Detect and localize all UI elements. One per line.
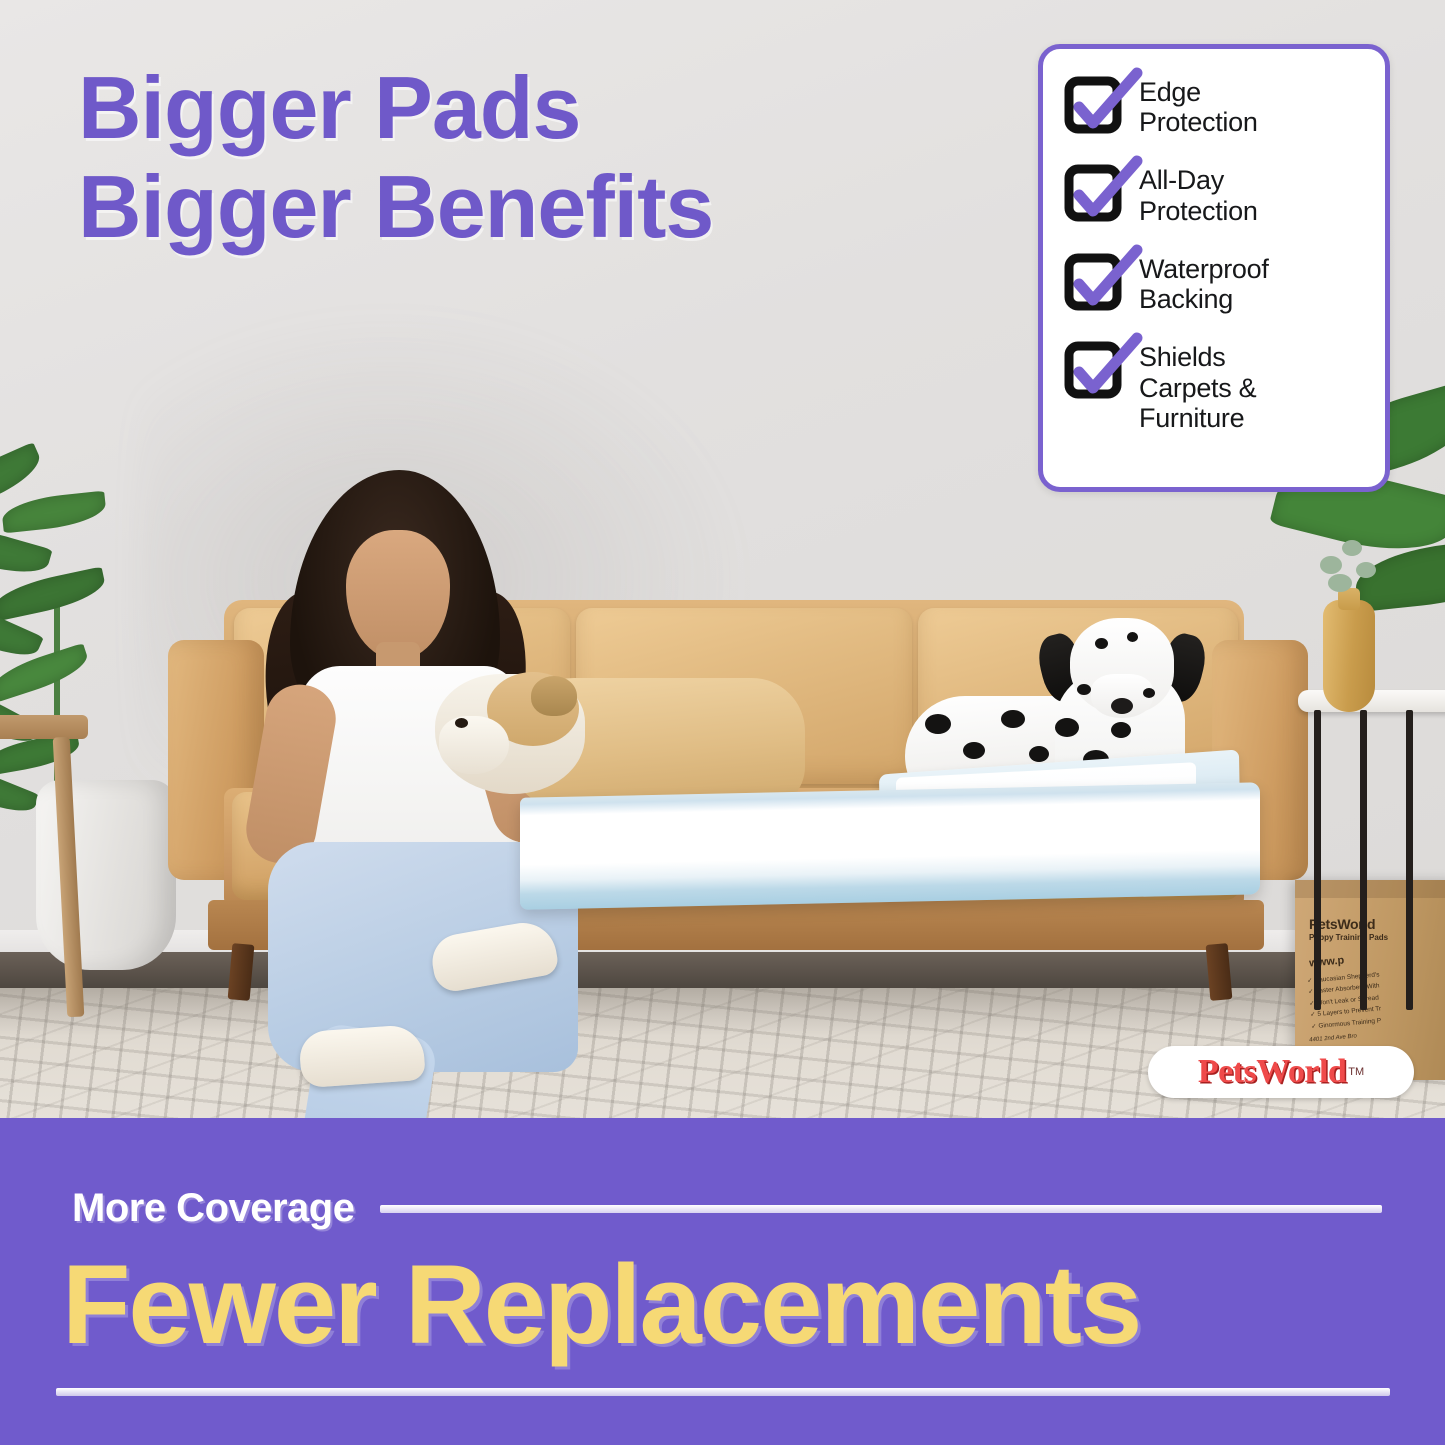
headline: Bigger Pads Bigger Benefits [78,58,978,257]
wooden-side-table-left [0,715,90,1015]
training-pad-main [520,782,1260,910]
checkbox-checked-icon [1065,252,1121,304]
headline-line-1: Bigger Pads [78,58,978,157]
banner-rule-top [380,1205,1382,1213]
feature-label-line: Furniture [1139,403,1256,433]
checkbox-checked-icon [1065,75,1121,127]
sneaker-front [298,1024,426,1089]
headline-line-2: Bigger Benefits [78,157,978,256]
banner-rule-bottom [56,1388,1390,1396]
feature-item: Edge Protection [1065,75,1367,137]
trademark-symbol: TM [1348,1066,1364,1078]
feature-label: Edge Protection [1139,75,1258,137]
banner-kicker-row: More Coverage [72,1186,1382,1231]
eucalyptus-sprig [1320,556,1342,574]
banner-kicker: More Coverage [72,1186,354,1231]
feature-checklist-card: Edge Protection All-Day Protection [1038,44,1390,492]
feature-label: Shields Carpets & Furniture [1139,340,1256,433]
feature-label-line: Protection [1139,196,1258,226]
brand-logo-text: PetsWorld [1198,1053,1346,1091]
marble-side-table-right [1298,690,1445,1020]
bottom-banner: More Coverage Fewer Replacements [0,1118,1445,1445]
feature-label-line: Carpets & [1139,373,1256,403]
eucalyptus-sprig [1328,574,1352,592]
feature-item: Shields Carpets & Furniture [1065,340,1367,433]
feature-item: Waterproof Backing [1065,252,1367,314]
eucalyptus-sprig [1342,540,1362,556]
banner-headline: Fewer Replacements [62,1240,1392,1369]
ceramic-vase [1323,600,1375,712]
feature-label: Waterproof Backing [1139,252,1269,314]
eucalyptus-sprig [1356,562,1376,578]
feature-label-line: Backing [1139,284,1269,314]
checkbox-checked-icon [1065,340,1121,392]
feature-label: All-Day Protection [1139,163,1258,225]
feature-label-line: All-Day [1139,165,1258,195]
brand-logo: PetsWorldTM [1148,1046,1414,1098]
feature-label-line: Edge [1139,77,1258,107]
feature-label-line: Waterproof [1139,254,1269,284]
checkbox-checked-icon [1065,163,1121,215]
feature-label-line: Protection [1139,107,1258,137]
feature-item: All-Day Protection [1065,163,1367,225]
feature-label-line: Shields [1139,342,1256,372]
product-marketing-image: PetsWorld Puppy Training Pads www.p ✓ Ca… [0,0,1445,1445]
